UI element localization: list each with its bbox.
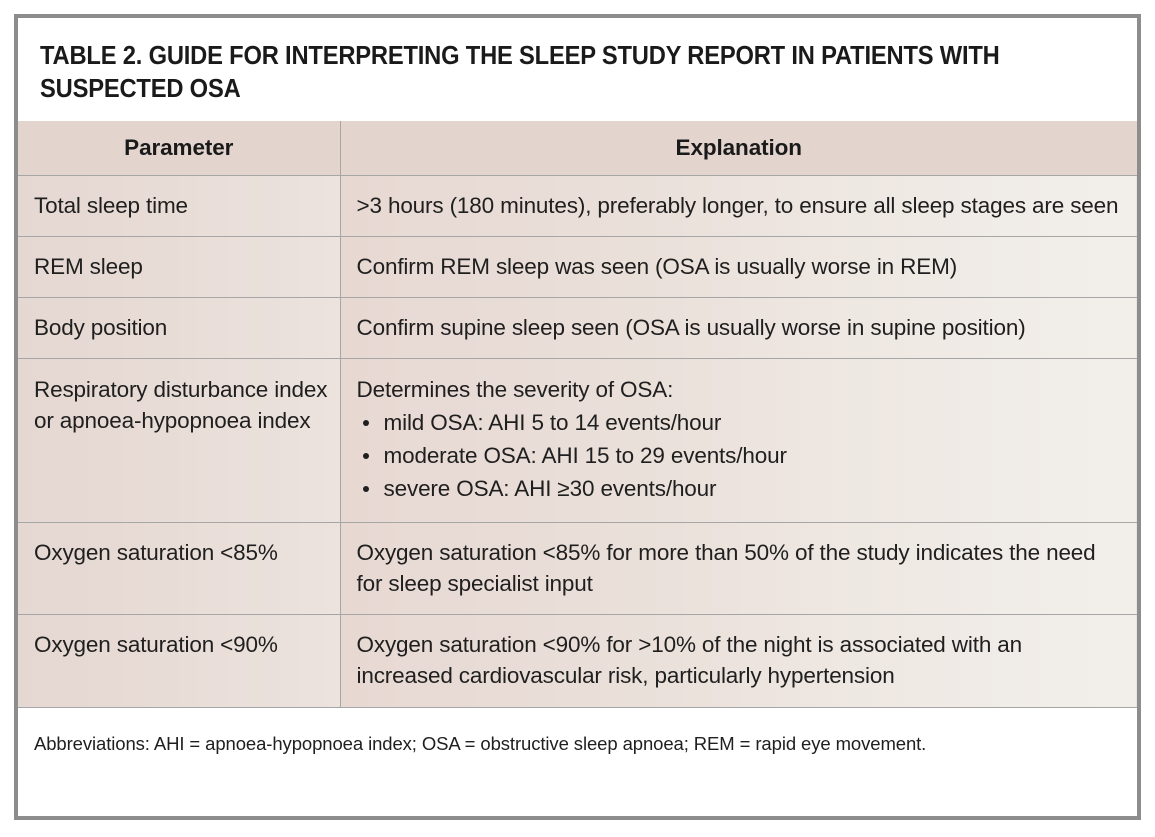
list-item-label: severe OSA: AHI ≥30 events/hour [384, 476, 717, 501]
cell-explanation: Confirm supine sleep seen (OSA is usuall… [340, 298, 1137, 359]
cell-explanation: >3 hours (180 minutes), preferably longe… [340, 176, 1137, 237]
cell-explanation: Confirm REM sleep was seen (OSA is usual… [340, 237, 1137, 298]
table-body: Total sleep time >3 hours (180 minutes),… [18, 176, 1137, 707]
cell-explanation: Determines the severity of OSA: mild OSA… [340, 359, 1137, 523]
table-row: Oxygen saturation <85% Oxygen saturation… [18, 523, 1137, 615]
parameter-text: Oxygen saturation <85% [18, 523, 340, 583]
list-item-label: moderate OSA: AHI 15 to 29 events/hour [384, 443, 787, 468]
interpretation-table: Parameter Explanation Total sleep time >… [18, 121, 1137, 707]
column-header-parameter-label: Parameter [18, 121, 340, 175]
cell-parameter: Body position [18, 298, 340, 359]
cell-explanation: Oxygen saturation <90% for >10% of the n… [340, 615, 1137, 707]
explanation-text: Oxygen saturation <90% for >10% of the n… [341, 615, 1138, 706]
cell-parameter: Oxygen saturation <90% [18, 615, 340, 707]
cell-parameter: Total sleep time [18, 176, 340, 237]
parameter-text: Total sleep time [18, 176, 340, 236]
cell-parameter: REM sleep [18, 237, 340, 298]
column-header-explanation-label: Explanation [341, 121, 1138, 175]
table-row: Oxygen saturation <90% Oxygen saturation… [18, 615, 1137, 707]
explanation-text: >3 hours (180 minutes), preferably longe… [341, 176, 1138, 236]
table-frame-inner: TABLE 2. GUIDE FOR INTERPRETING THE SLEE… [18, 18, 1137, 816]
table-row: Respiratory disturbance index or apnoea-… [18, 359, 1137, 523]
parameter-text: Respiratory disturbance index or apnoea-… [18, 359, 340, 453]
table-figure: TABLE 2. GUIDE FOR INTERPRETING THE SLEE… [14, 14, 1141, 820]
list-item: moderate OSA: AHI 15 to 29 events/hour [357, 440, 1122, 473]
explanation-text: Confirm supine sleep seen (OSA is usuall… [341, 298, 1138, 358]
cell-explanation: Oxygen saturation <85% for more than 50%… [340, 523, 1137, 615]
parameter-text: Oxygen saturation <90% [18, 615, 340, 675]
explanation-lead: Determines the severity of OSA: [357, 374, 1122, 405]
explanation-text: Confirm REM sleep was seen (OSA is usual… [341, 237, 1138, 297]
severity-bullet-list: mild OSA: AHI 5 to 14 events/hour modera… [357, 407, 1122, 505]
cell-parameter: Oxygen saturation <85% [18, 523, 340, 615]
bullet-dot-icon [363, 453, 369, 459]
list-item-label: mild OSA: AHI 5 to 14 events/hour [384, 410, 722, 435]
table-header-row: Parameter Explanation [18, 121, 1137, 176]
abbreviations-text: Abbreviations: AHI = apnoea-hypopnoea in… [18, 722, 1137, 768]
parameter-text: Body position [18, 298, 340, 358]
bullet-dot-icon [363, 486, 369, 492]
list-item: mild OSA: AHI 5 to 14 events/hour [357, 407, 1122, 440]
table-row: Total sleep time >3 hours (180 minutes),… [18, 176, 1137, 237]
column-header-parameter: Parameter [18, 121, 340, 176]
explanation-text: Oxygen saturation <85% for more than 50%… [341, 523, 1138, 614]
table-caption-text: TABLE 2. GUIDE FOR INTERPRETING THE SLEE… [40, 40, 1036, 105]
bullet-dot-icon [363, 420, 369, 426]
cell-parameter: Respiratory disturbance index or apnoea-… [18, 359, 340, 523]
parameter-text: REM sleep [18, 237, 340, 297]
list-item: severe OSA: AHI ≥30 events/hour [357, 473, 1122, 506]
table-header: Parameter Explanation [18, 121, 1137, 176]
column-header-explanation: Explanation [340, 121, 1137, 176]
table-row: Body position Confirm supine sleep seen … [18, 298, 1137, 359]
explanation-body: Determines the severity of OSA: mild OSA… [341, 359, 1138, 522]
table-row: REM sleep Confirm REM sleep was seen (OS… [18, 237, 1137, 298]
table-caption: TABLE 2. GUIDE FOR INTERPRETING THE SLEE… [18, 18, 1137, 121]
table-footnote: Abbreviations: AHI = apnoea-hypopnoea in… [18, 708, 1137, 768]
